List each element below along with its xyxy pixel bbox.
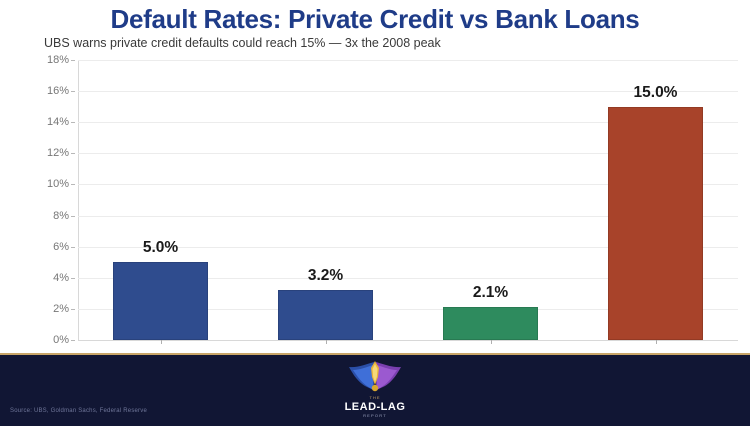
y-tick-label: 14% (47, 116, 69, 128)
y-tick-label: 16% (47, 85, 69, 97)
page-title: Default Rates: Private Credit vs Bank Lo… (0, 4, 750, 34)
bar-value-label: 15.0% (608, 84, 703, 102)
chart-header: Default Rates: Private Credit vs Bank Lo… (0, 0, 750, 51)
bar-value-label: 5.0% (113, 239, 208, 257)
y-tick-mark (71, 60, 75, 61)
chart-page: Default Rates: Private Credit vs Bank Lo… (0, 0, 750, 426)
x-tick-mark (161, 340, 162, 344)
page-subtitle: UBS warns private credit defaults could … (44, 35, 750, 51)
bar-value-label: 3.2% (278, 267, 373, 285)
y-tick-mark (71, 340, 75, 341)
y-tick-mark (71, 91, 75, 92)
x-tick-mark (491, 340, 492, 344)
logo-name-text: LEAD-LAG (345, 401, 406, 413)
bar[interactable] (443, 307, 538, 340)
y-tick-mark (71, 309, 75, 310)
y-tick-mark (71, 247, 75, 248)
bar-series: 5.0%3.2%2.1%15.0% (78, 60, 738, 340)
source-note: Source: UBS, Goldman Sachs, Federal Rese… (10, 408, 147, 414)
bar[interactable] (608, 107, 703, 340)
y-tick-label: 0% (53, 334, 69, 346)
bar-value-label: 2.1% (443, 284, 538, 302)
y-tick-label: 6% (53, 241, 69, 253)
y-tick-mark (71, 153, 75, 154)
y-tick-label: 8% (53, 210, 69, 222)
x-tick-mark (326, 340, 327, 344)
y-tick-label: 10% (47, 178, 69, 190)
y-tick-mark (71, 184, 75, 185)
logo-report-text: REPORT (363, 413, 387, 419)
lead-lag-logo: THE LEAD-LAG REPORT (338, 359, 412, 421)
bar-column[interactable]: 2.1% (443, 60, 538, 340)
eagle-wings-icon (345, 359, 405, 395)
y-tick-label: 18% (47, 54, 69, 66)
y-tick-label: 4% (53, 272, 69, 284)
footer-band: Source: UBS, Goldman Sachs, Federal Rese… (0, 355, 750, 426)
y-tick-mark (71, 278, 75, 279)
plot-area: 0%2%4%6%8%10%12%14%16%18% 5.0%3.2%2.1%15… (78, 60, 738, 340)
chart-area: 0%2%4%6%8%10%12%14%16%18% 5.0%3.2%2.1%15… (0, 53, 750, 353)
logo-the-text: THE (370, 395, 381, 400)
y-tick-mark (71, 122, 75, 123)
bar-column[interactable]: 3.2% (278, 60, 373, 340)
y-tick-label: 2% (53, 303, 69, 315)
bar-column[interactable]: 15.0% (608, 60, 703, 340)
bar[interactable] (113, 262, 208, 340)
y-tick-mark (71, 216, 75, 217)
y-tick-label: 12% (47, 147, 69, 159)
gridline (78, 340, 738, 341)
bar[interactable] (278, 290, 373, 340)
x-tick-mark (656, 340, 657, 344)
bar-column[interactable]: 5.0% (113, 60, 208, 340)
